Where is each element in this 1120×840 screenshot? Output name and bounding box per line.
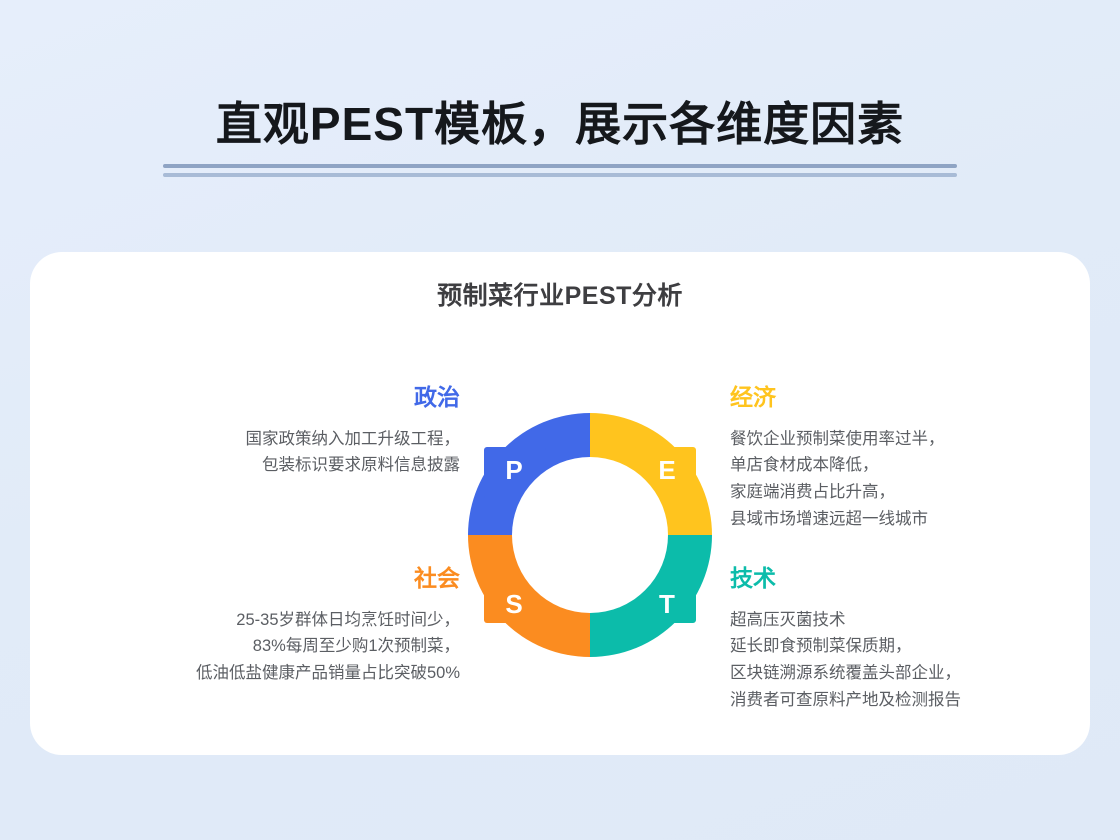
quadrant-social-line: 低油低盐健康产品销量占比突破50% <box>70 660 460 687</box>
quadrant-economic-line: 餐饮企业预制菜使用率过半， <box>730 426 1090 453</box>
pest-card: 预制菜行业PEST分析 政治 国家政策纳入加工升级工程， 包装标识要求原料信息披… <box>30 252 1090 755</box>
quadrant-social-line: 25-35岁群体日均烹饪时间少， <box>70 607 460 634</box>
quadrant-technological-line: 区块链溯源系统覆盖头部企业， <box>730 660 1090 687</box>
quadrant-technological-line: 超高压灭菌技术 <box>730 607 1090 634</box>
quadrant-technological-line: 消费者可查原料产地及检测报告 <box>730 687 1090 714</box>
quadrant-economic-line: 家庭端消费占比升高， <box>730 479 1090 506</box>
quadrant-economic-heading: 经济 <box>730 384 1090 412</box>
quadrant-social: 社会 25-35岁群体日均烹饪时间少， 83%每周至少购1次预制菜， 低油低盐健… <box>70 565 460 687</box>
quadrant-economic-body: 餐饮企业预制菜使用率过半， 单店食材成本降低， 家庭端消费占比升高， 县域市场增… <box>730 426 1090 533</box>
title-underline <box>163 164 957 177</box>
quadrant-social-line: 83%每周至少购1次预制菜， <box>70 633 460 660</box>
quadrant-social-heading: 社会 <box>70 565 460 593</box>
quadrant-political-heading: 政治 <box>90 384 460 412</box>
quadrant-political: 政治 国家政策纳入加工升级工程， 包装标识要求原料信息披露 <box>90 384 460 479</box>
pest-donut-chart: P E S T <box>460 405 720 665</box>
quadrant-technological-line: 延长即食预制菜保质期， <box>730 633 1090 660</box>
pest-donut-svg <box>460 405 720 665</box>
quadrant-technological: 技术 超高压灭菌技术 延长即食预制菜保质期， 区块链溯源系统覆盖头部企业， 消费… <box>730 565 1090 713</box>
quadrant-social-body: 25-35岁群体日均烹饪时间少， 83%每周至少购1次预制菜， 低油低盐健康产品… <box>70 607 460 687</box>
title-underline-line-1 <box>163 164 957 168</box>
donut-label-t: T <box>650 587 684 621</box>
donut-label-e: E <box>650 453 684 487</box>
card-title: 预制菜行业PEST分析 <box>30 276 1090 312</box>
quadrant-technological-body: 超高压灭菌技术 延长即食预制菜保质期， 区块链溯源系统覆盖头部企业， 消费者可查… <box>730 607 1090 714</box>
donut-label-s: S <box>497 587 531 621</box>
quadrant-economic-line: 单店食材成本降低， <box>730 452 1090 479</box>
quadrant-technological-heading: 技术 <box>730 565 1090 593</box>
quadrant-political-line: 国家政策纳入加工升级工程， <box>90 426 460 453</box>
quadrant-economic: 经济 餐饮企业预制菜使用率过半， 单店食材成本降低， 家庭端消费占比升高， 县域… <box>730 384 1090 532</box>
donut-label-p: P <box>497 453 531 487</box>
quadrant-political-body: 国家政策纳入加工升级工程， 包装标识要求原料信息披露 <box>90 426 460 479</box>
page-header: 直观PEST模板，展示各维度因素 <box>0 96 1120 177</box>
page-title: 直观PEST模板，展示各维度因素 <box>0 96 1120 154</box>
title-underline-line-2 <box>163 173 957 177</box>
quadrant-economic-line: 县域市场增速远超一线城市 <box>730 506 1090 533</box>
quadrant-political-line: 包装标识要求原料信息披露 <box>90 452 460 479</box>
